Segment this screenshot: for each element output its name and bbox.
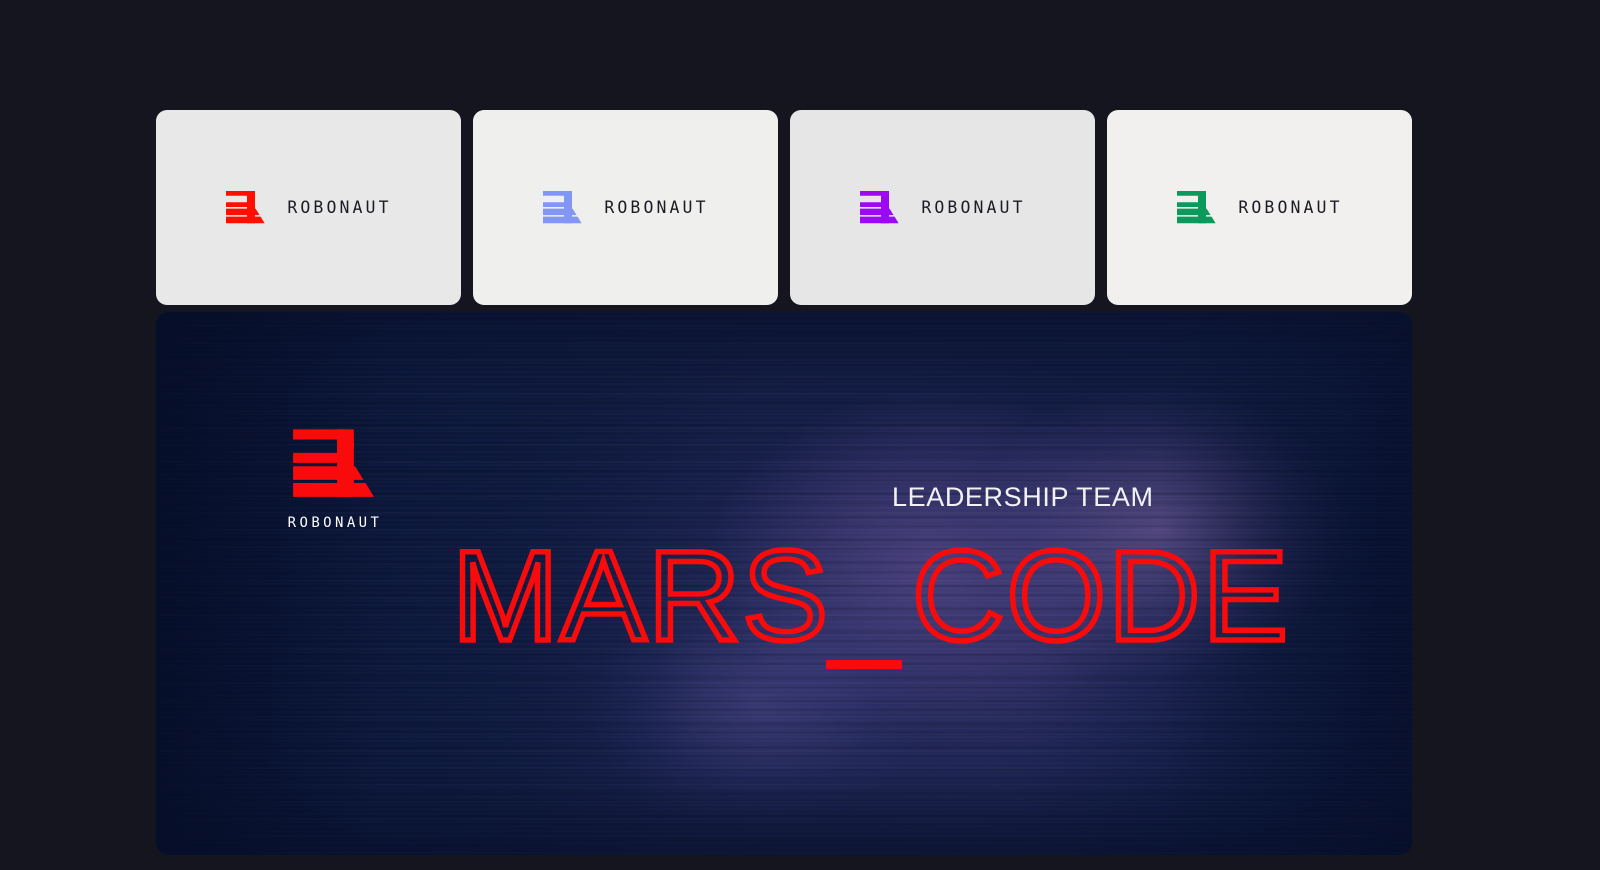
logo-card-robonaut-periwinkle[interactable]: ROBONAUT <box>473 110 778 305</box>
logo-card-label: ROBONAUT <box>604 198 708 217</box>
hero-title-part-two: CODE <box>912 525 1290 668</box>
logo-card-robonaut-red[interactable]: ROBONAUT <box>156 110 461 305</box>
robonaut-r-mark-icon <box>1176 190 1218 226</box>
hero-title-underscore <box>826 660 902 669</box>
hero-title-part-one: MARS <box>452 525 830 668</box>
logo-card-strip: ROBONAUT ROBONAUT ROBONAUT <box>156 110 1412 305</box>
hero-brand-lockup: ROBONAUT <box>270 427 400 531</box>
hero-banner: ROBONAUT LEADERSHIP TEAM MARS CODE <box>156 312 1412 855</box>
logo-card-robonaut-green[interactable]: ROBONAUT <box>1107 110 1412 305</box>
hero-title-mars-code: MARS CODE <box>452 532 1352 672</box>
hero-eyebrow-leadership-team: LEADERSHIP TEAM <box>892 482 1154 513</box>
robonaut-r-mark-icon <box>859 190 901 226</box>
robonaut-r-mark-icon <box>291 427 379 503</box>
robonaut-r-mark-icon <box>225 190 267 226</box>
logo-card-label: ROBONAUT <box>287 198 391 217</box>
logo-card-label: ROBONAUT <box>1238 198 1342 217</box>
robonaut-r-mark-icon <box>542 190 584 226</box>
logo-card-robonaut-violet[interactable]: ROBONAUT <box>790 110 1095 305</box>
hero-brand-word: ROBONAUT <box>270 515 400 531</box>
logo-card-label: ROBONAUT <box>921 198 1025 217</box>
